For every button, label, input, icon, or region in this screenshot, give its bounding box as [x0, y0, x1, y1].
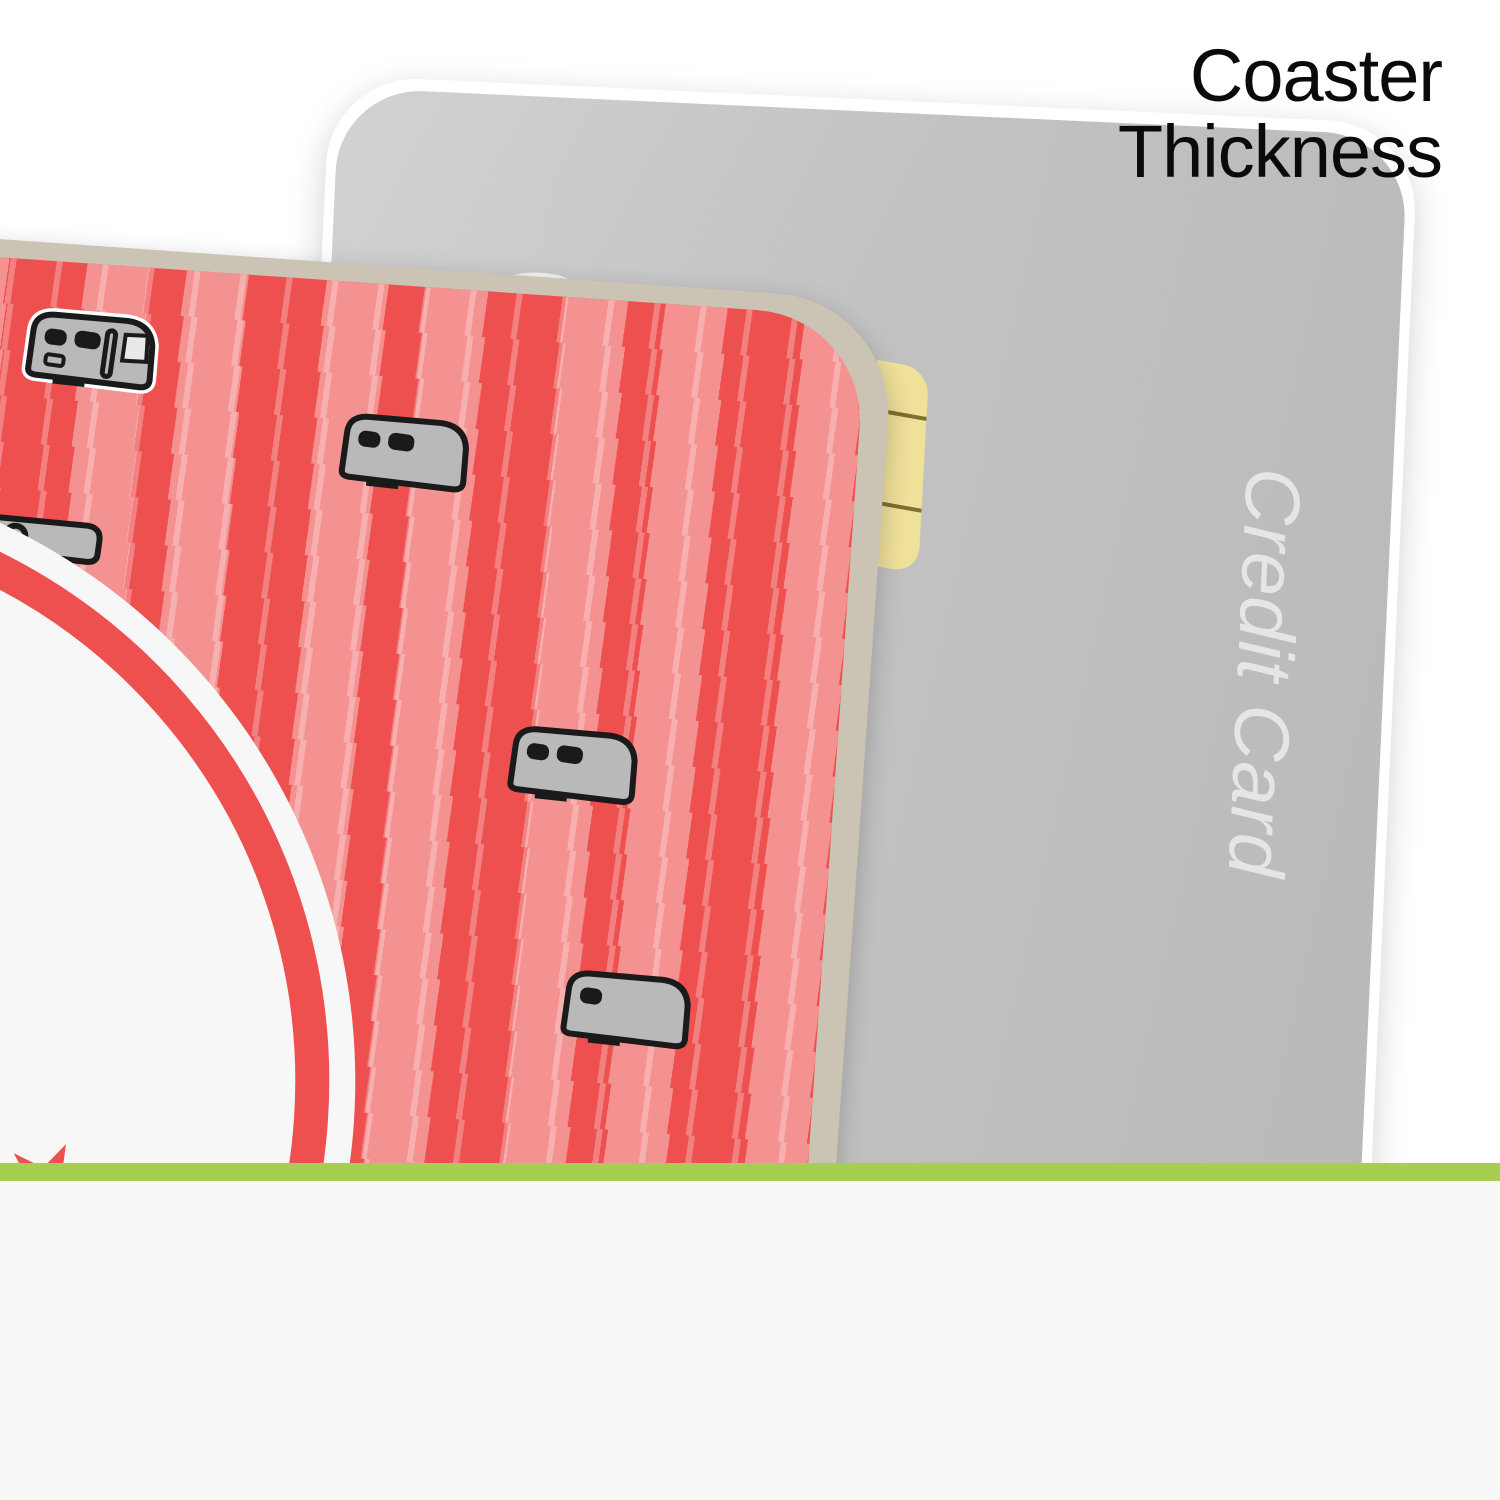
trailer-icon — [319, 396, 481, 512]
thickness-comparison-graphic: Coaster Thickness 000 Credit Card — [0, 0, 1500, 1500]
ground-line — [0, 1163, 1500, 1181]
page-title: Coaster Thickness — [1118, 38, 1442, 190]
trailer-icon — [487, 708, 649, 824]
trailer-icon — [5, 293, 167, 409]
paper-coaster-object: REGION 3 ★ ★ ★ ★ ★ ★ — [0, 200, 940, 1240]
trailer-icon — [540, 952, 702, 1068]
credit-card-label: Credit Card — [1210, 466, 1319, 880]
coaster-printed-face: REGION 3 ★ ★ ★ ★ ★ ★ — [0, 218, 867, 1327]
measurement-panel: ~2mm Paper Coaster ~0.78mm Credit Card — [0, 1181, 1500, 1500]
